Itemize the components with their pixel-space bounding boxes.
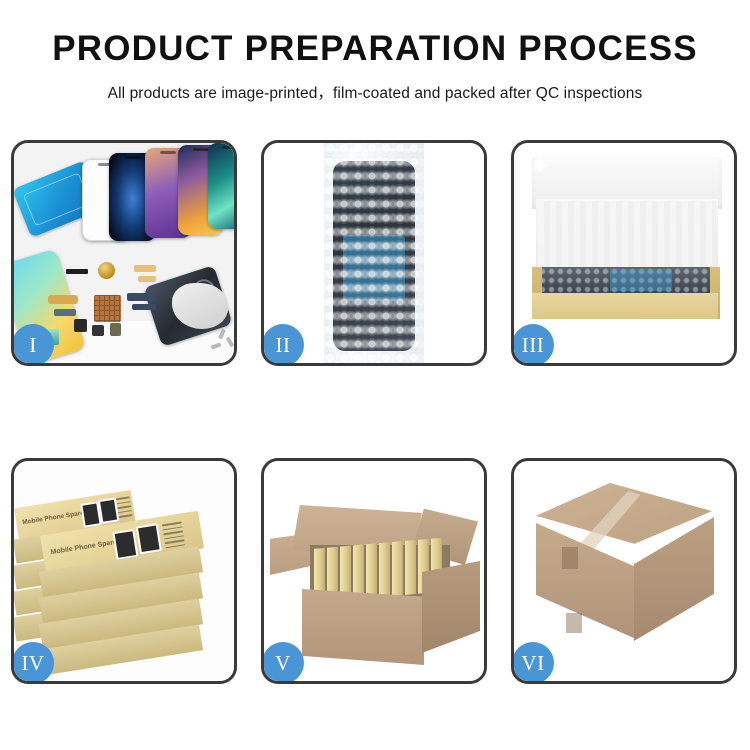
panel-3-step-badge: III [512, 324, 554, 366]
panel-2-step-badge: II [262, 324, 304, 366]
ribbon-cable-2 [54, 309, 76, 316]
ribbon-cable-1 [48, 295, 78, 304]
teal-gradient-screen [208, 143, 234, 229]
carton-seam-tab-top [562, 547, 578, 569]
flex-cable-2 [138, 276, 156, 282]
black-bar-part [66, 269, 88, 274]
flex-cable-1 [134, 265, 156, 272]
process-panel-3: III [511, 140, 737, 366]
box-screen-thumb-c [112, 529, 138, 560]
copper-grid-part [94, 295, 121, 322]
foam-liner [538, 201, 716, 267]
process-panel-2: II [261, 140, 487, 366]
flex-cable-4 [132, 304, 156, 310]
page-title: PRODUCT PREPARATION PROCESS [0, 30, 750, 69]
component-square-3 [110, 323, 121, 336]
component-square-2 [92, 325, 104, 336]
process-panel-1: I [11, 140, 237, 366]
gold-coil-part [98, 262, 115, 279]
carton-seam-tab-bottom [566, 613, 582, 633]
panel-5-step-badge: V [262, 642, 304, 684]
box-text-lines-front-1 [162, 521, 186, 551]
process-panel-4: Mobile Phone Spare Parts Mobile Phone Sp… [11, 458, 237, 684]
component-square-1 [74, 319, 87, 332]
page-subtitle: All products are image-printed，film-coat… [0, 81, 750, 103]
panel-4-step-badge: IV [12, 642, 54, 684]
box-screen-thumb-d [136, 523, 162, 554]
page-header: PRODUCT PREPARATION PROCESS All products… [0, 0, 750, 103]
panel-1-step-badge: I [12, 324, 54, 366]
process-panel-grid: I II III [11, 140, 739, 684]
carton-front-face [302, 589, 424, 665]
bubble-wrap-layer-back [323, 148, 425, 363]
panel-6-step-badge: VI [512, 642, 554, 684]
flex-cable-3 [127, 293, 155, 301]
process-panel-5: V [261, 458, 487, 684]
process-panel-6: VI [511, 458, 737, 684]
blue-label-patch [610, 269, 672, 291]
inner-box-front-wall [532, 293, 718, 319]
